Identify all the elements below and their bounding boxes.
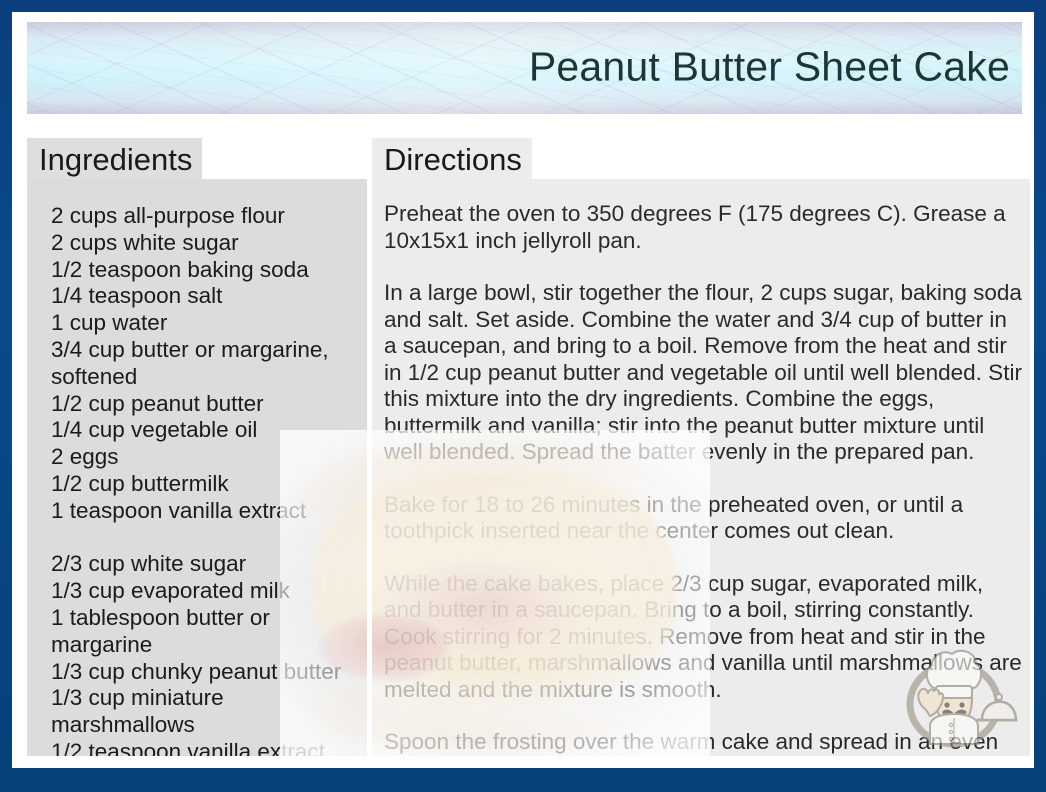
ingredient-line: 1/3 cup miniature marshmallows bbox=[51, 685, 359, 739]
ingredient-line: 2/3 cup white sugar bbox=[51, 551, 359, 578]
ingredient-line: 1/2 cup peanut butter bbox=[51, 391, 359, 418]
ingredient-line: 3/4 cup butter or margarine, softened bbox=[51, 337, 359, 391]
ingredients-panel: 2 cups all-purpose flour2 cups white sug… bbox=[27, 179, 367, 756]
ingredient-line: 1/2 teaspoon vanilla extract bbox=[51, 739, 359, 756]
column-gutter bbox=[367, 179, 372, 756]
directions-steps: Preheat the oven to 350 degrees F (175 d… bbox=[384, 201, 1022, 756]
ingredient-line: 1 cup water bbox=[51, 310, 359, 337]
directions-heading: Directions bbox=[372, 138, 532, 182]
recipe-title: Peanut Butter Sheet Cake bbox=[529, 44, 1010, 91]
ingredients-heading: Ingredients bbox=[27, 138, 202, 182]
directions-panel: Preheat the oven to 350 degrees F (175 d… bbox=[372, 179, 1030, 756]
ingredients-list: 2 cups all-purpose flour2 cups white sug… bbox=[51, 203, 359, 756]
ingredient-line: 1/4 teaspoon salt bbox=[51, 283, 359, 310]
ingredient-line: 1/2 teaspoon baking soda bbox=[51, 257, 359, 284]
direction-step: While the cake bakes, place 2/3 cup suga… bbox=[384, 571, 1022, 704]
direction-step: Spoon the frosting over the warm cake an… bbox=[384, 729, 1022, 756]
ingredient-line: 1/2 cup buttermilk bbox=[51, 471, 359, 498]
ingredient-line: 1/4 cup vegetable oil bbox=[51, 417, 359, 444]
direction-step: Preheat the oven to 350 degrees F (175 d… bbox=[384, 201, 1022, 254]
ingredient-line: 1 teaspoon vanilla extract bbox=[51, 498, 359, 525]
direction-step: Bake for 18 to 26 minutes in the preheat… bbox=[384, 492, 1022, 545]
ingredient-line: 1 tablespoon butter or margarine bbox=[51, 605, 359, 659]
ingredient-line: 1/3 cup evaporated milk bbox=[51, 578, 359, 605]
recipe-card: Peanut Butter Sheet Cake Ingredients 2 c… bbox=[0, 0, 1046, 792]
direction-step: In a large bowl, stir together the flour… bbox=[384, 280, 1022, 466]
header-banner: Peanut Butter Sheet Cake bbox=[27, 22, 1022, 114]
ingredients-group-gap bbox=[51, 525, 359, 552]
ingredient-line: 1/3 cup chunky peanut butter bbox=[51, 659, 359, 686]
ingredient-line: 2 eggs bbox=[51, 444, 359, 471]
ingredient-line: 2 cups white sugar bbox=[51, 230, 359, 257]
recipe-sheet: Peanut Butter Sheet Cake Ingredients 2 c… bbox=[12, 12, 1034, 768]
ingredient-line: 2 cups all-purpose flour bbox=[51, 203, 359, 230]
